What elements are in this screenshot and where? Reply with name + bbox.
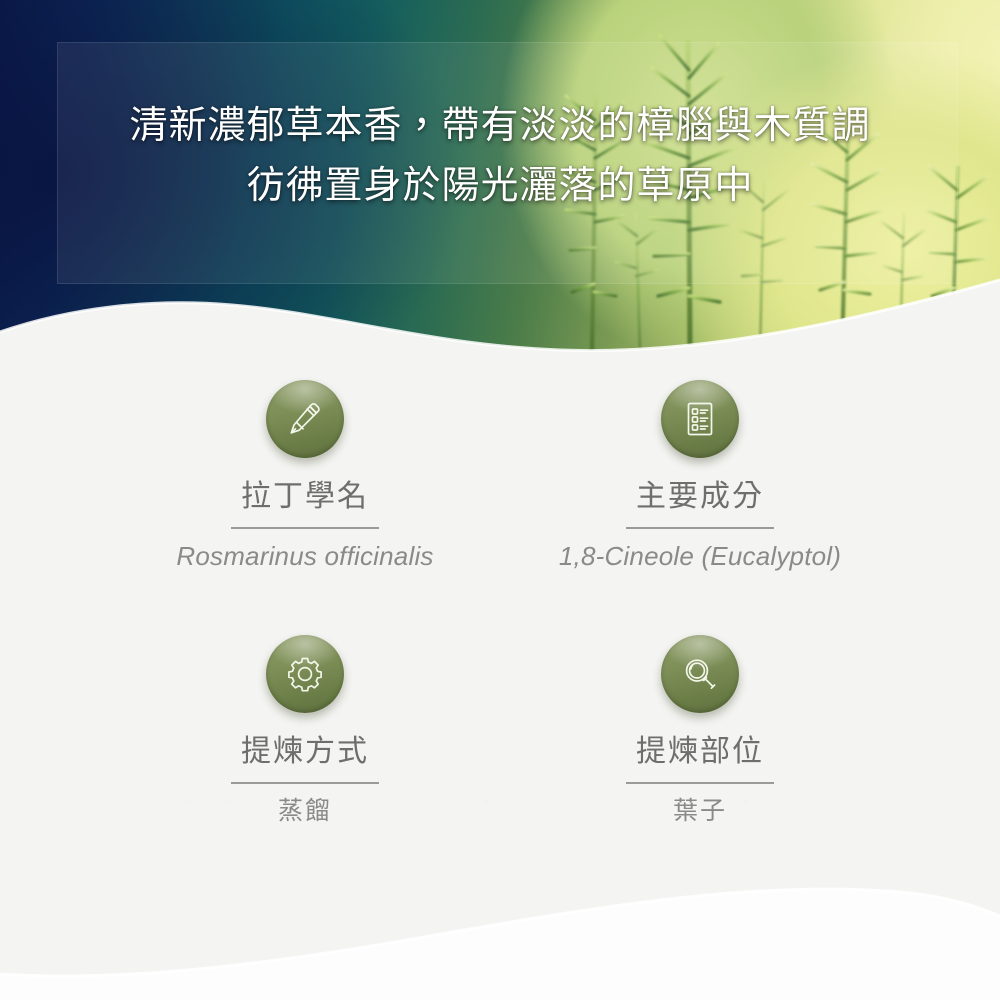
spec-card-title: 提煉部位 <box>490 735 910 769</box>
spec-card-title: 主要成分 <box>490 480 910 514</box>
hero-headline-line-1: 清新濃郁草本香，帶有淡淡的樟腦與木質調 <box>0 96 1000 156</box>
checklist-icon <box>680 399 720 439</box>
spec-card-divider <box>626 527 774 529</box>
hero-headline-line-2: 彷彿置身於陽光灑落的草原中 <box>0 156 1000 216</box>
spec-card-main-component: 主要成分 1,8-Cineole (Eucalyptol) <box>490 380 910 572</box>
wave-divider-top <box>0 250 1000 352</box>
magnifier-icon-badge <box>661 635 739 713</box>
spec-card-value: 1,8-Cineole (Eucalyptol) <box>490 540 910 572</box>
gear-icon <box>285 654 325 694</box>
checklist-icon-badge <box>661 380 739 458</box>
pen-icon <box>285 399 325 439</box>
spec-card-value: 蒸餾 <box>95 795 515 827</box>
spec-card-extraction-method: 提煉方式 蒸餾 <box>95 635 515 827</box>
spec-card-divider <box>231 527 379 529</box>
spec-card-divider <box>231 782 379 784</box>
spec-card-extraction-part: 提煉部位 葉子 <box>490 635 910 827</box>
hero-banner: 清新濃郁草本香，帶有淡淡的樟腦與木質調 彷彿置身於陽光灑落的草原中 <box>0 0 1000 352</box>
pen-icon-badge <box>266 380 344 458</box>
spec-card-latin-name: 拉丁學名 Rosmarinus officinalis <box>95 380 515 572</box>
spec-card-value: 葉子 <box>490 795 910 827</box>
spec-card-title: 拉丁學名 <box>95 480 515 514</box>
hero-headline: 清新濃郁草本香，帶有淡淡的樟腦與木質調 彷彿置身於陽光灑落的草原中 <box>0 96 1000 216</box>
magnifier-icon <box>680 654 720 694</box>
spec-card-title: 提煉方式 <box>95 735 515 769</box>
product-info-page: 清新濃郁草本香，帶有淡淡的樟腦與木質調 彷彿置身於陽光灑落的草原中 <box>0 0 1000 1000</box>
wave-divider-bottom <box>0 870 1000 1000</box>
spec-section: 拉丁學名 Rosmarinus officinalis <box>0 352 1000 1000</box>
spec-card-value: Rosmarinus officinalis <box>95 540 515 572</box>
gear-icon-badge <box>266 635 344 713</box>
spec-card-divider <box>626 782 774 784</box>
